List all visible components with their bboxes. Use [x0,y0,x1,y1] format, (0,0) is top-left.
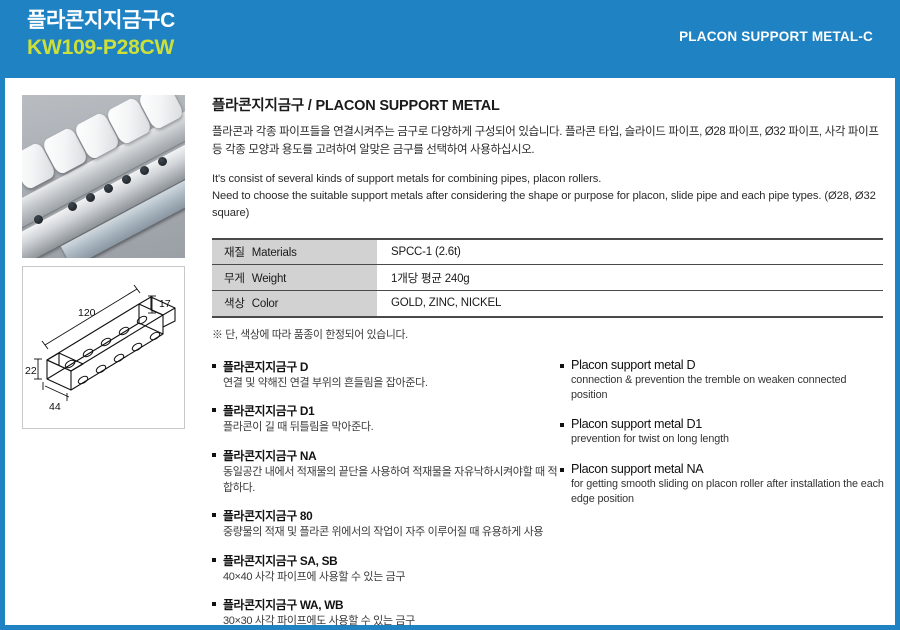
rail-hole [34,215,43,224]
feature-title: 플라콘지지금구 SA, SB [212,552,560,569]
list-item: 플라콘지지금구 SA, SB 40×40 사각 파이프에 사용할 수 있는 금구 [212,552,560,586]
feature-lists: 플라콘지지금구 D 연결 및 약해진 연결 부위의 흔들림을 잡아준다. 플라콘… [212,358,888,630]
bracket-hole [140,166,149,175]
spec-label-en: Color [252,298,278,310]
description-ko: 플라콘과 각종 파이프들을 연결시켜주는 금구로 다양하게 구성되어 있습니다.… [212,124,888,160]
list-item: Placon support metal NA for getting smoo… [560,462,885,508]
feature-desc: for getting smooth sliding on placon rol… [560,477,885,508]
product-photo [22,95,185,258]
main-content: 플라콘지지금구 / PLACON SUPPORT METAL 플라콘과 각종 파… [212,94,888,630]
page-header: 플라콘지지금구C KW109-P28CW PLACON SUPPORT META… [0,0,900,78]
list-item: 플라콘지지금구 80 중량물의 적재 및 플라콘 위에서의 작업이 자주 이루어… [212,507,560,541]
spec-value-color: GOLD, ZINC, NICKEL [377,291,883,317]
feature-list-ko: 플라콘지지금구 D 연결 및 약해진 연결 부위의 흔들림을 잡아준다. 플라콘… [212,358,560,630]
list-item: 플라콘지지금구 D 연결 및 약해진 연결 부위의 흔들림을 잡아준다. [212,358,560,392]
feature-desc: 플라콘이 길 때 뒤틀림을 막아준다. [212,420,560,436]
dimension-length-label: 120 [78,307,96,319]
description-en-line2: Need to choose the suitable support meta… [212,188,888,222]
spec-label-weight: 무게Weight [212,265,377,291]
bracket-hole [86,193,95,202]
dimension-drawing: 120 17 22 44 [22,266,185,429]
header-title-group: 플라콘지지금구C KW109-P28CW [27,8,175,62]
list-item: 플라콘지지금구 D1 플라콘이 길 때 뒤틀림을 막아준다. [212,402,560,436]
spec-label-color: 색상Color [212,291,377,317]
feature-title: 플라콘지지금구 D [212,358,560,375]
description-en: It's consist of several kinds of support… [212,171,888,222]
list-item: 플라콘지지금구 NA 동일공간 내에서 적재물의 끝단을 사용하여 적재물을 자… [212,447,560,496]
product-title-en: PLACON SUPPORT METAL-C [679,29,873,44]
feature-desc: 동일공간 내에서 적재물의 끝단을 사용하여 적재물을 자유낙하시켜야할 때 적… [212,465,560,496]
list-item: 플라콘지지금구 WA, WB 30×30 사각 파이프에도 사용할 수 있는 금… [212,596,560,630]
feature-desc: 40×40 사각 파이프에 사용할 수 있는 금구 [212,570,560,586]
feature-desc: 30×30 사각 파이프에도 사용할 수 있는 금구 [212,614,560,630]
feature-desc: 중량물의 적재 및 플라콘 위에서의 작업이 자주 이루어질 때 유용하게 사용 [212,525,560,541]
left-media-column: 120 17 22 44 [22,95,185,429]
spec-value-materials: SPCC-1 (2.6t) [377,239,883,265]
product-title-ko: 플라콘지지금구C [27,8,175,35]
spec-label-ko: 무게 [224,273,245,285]
dimension-width-label: 44 [49,401,61,413]
list-item: Placon support metal D1 prevention for t… [560,417,885,447]
list-item: Placon support metal D connection & prev… [560,358,885,404]
feature-title: Placon support metal D [560,358,885,372]
bracket-hole [158,157,167,166]
feature-title: 플라콘지지금구 D1 [212,402,560,419]
spec-label-ko: 색상 [224,298,245,310]
section-title: 플라콘지지금구 / PLACON SUPPORT METAL [212,94,888,115]
product-code: KW109-P28CW [27,35,175,62]
feature-title: 플라콘지지금구 WA, WB [212,596,560,613]
description-en-line1: It's consist of several kinds of support… [212,171,888,188]
feature-desc: 연결 및 약해진 연결 부위의 흔들림을 잡아준다. [212,376,560,392]
feature-title: Placon support metal D1 [560,417,885,431]
product-spec-page: 플라콘지지금구C KW109-P28CW PLACON SUPPORT META… [0,0,900,630]
spec-note: ※ 단, 색상에 따라 품종이 한정되어 있습니다. [212,326,888,342]
spec-label-ko: 재질 [224,247,245,259]
table-row: 무게Weight 1개당 평균 240g [212,265,883,291]
dimension-drawing-svg: 120 17 22 44 [23,267,184,428]
bracket-hole [68,202,77,211]
spec-label-materials: 재질Materials [212,239,377,265]
specification-table: 재질Materials SPCC-1 (2.6t) 무게Weight 1개당 평… [212,238,883,318]
spec-label-en: Weight [252,273,286,285]
feature-title: Placon support metal NA [560,462,885,476]
feature-list-en: Placon support metal D connection & prev… [560,358,885,630]
bracket-hole [104,184,113,193]
spec-label-en: Materials [252,247,297,259]
feature-desc: connection & prevention the tremble on w… [560,373,885,404]
table-row: 재질Materials SPCC-1 (2.6t) [212,239,883,265]
spec-value-weight: 1개당 평균 240g [377,265,883,291]
table-row: 색상Color GOLD, ZINC, NICKEL [212,291,883,317]
feature-title: 플라콘지지금구 NA [212,447,560,464]
feature-desc: prevention for twist on long length [560,432,885,447]
bracket-hole [122,175,131,184]
dimension-depth-label: 22 [25,365,37,377]
feature-title: 플라콘지지금구 80 [212,507,560,524]
specification-table-body: 재질Materials SPCC-1 (2.6t) 무게Weight 1개당 평… [212,239,883,317]
dimension-height-label: 17 [159,298,171,310]
